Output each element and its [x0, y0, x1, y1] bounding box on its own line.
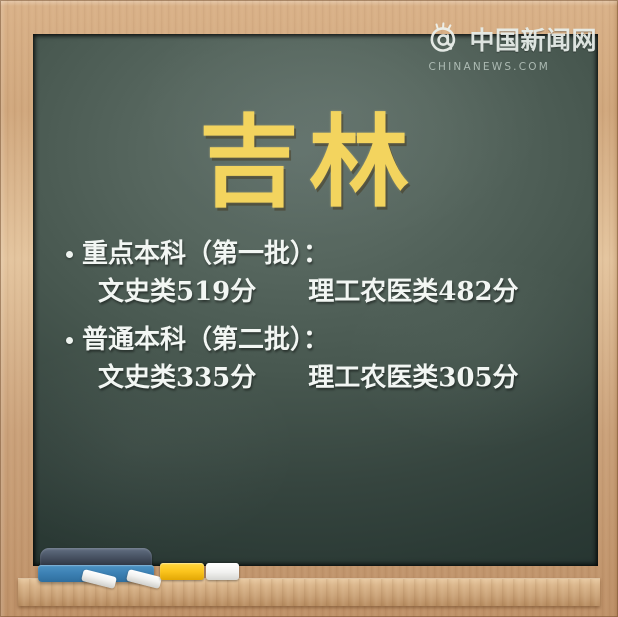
- section-heading: 重点本科（第一批）：: [66, 236, 588, 273]
- score-content: 重点本科（第一批）： 文史类519分 理工农医类482分 普通本科（第二批）： …: [66, 236, 588, 398]
- section-scores-line: 文史类335分 理工农医类305分: [98, 359, 588, 398]
- white-chalk: [206, 563, 239, 580]
- chinanews-logo: 中国新闻网 CHINANEWS.COM: [426, 22, 597, 73]
- logo-name-en: CHINANEWS.COM: [428, 61, 550, 73]
- province-title: 吉林: [0, 112, 618, 212]
- section-heading-label: 普通本科（第二批）：: [82, 322, 329, 359]
- yellow-chalk: [160, 563, 204, 580]
- section-scores-line: 文史类519分 理工农医类482分: [98, 273, 588, 312]
- score-group-first-batch: 重点本科（第一批）： 文史类519分 理工农医类482分: [66, 236, 588, 312]
- logo-name-cn: 中国新闻网: [469, 28, 597, 53]
- section-heading-label: 重点本科（第一批）：: [82, 236, 329, 273]
- bullet-dot-icon: [66, 337, 73, 344]
- logo-row: 中国新闻网: [426, 22, 597, 58]
- score-group-second-batch: 普通本科（第二批）： 文史类335分 理工农医类305分: [66, 322, 588, 398]
- poster-stage: 中国新闻网 CHINANEWS.COM 吉林 重点本科（第一批）： 文史类519…: [0, 0, 618, 617]
- at-sign-burst-icon: [426, 22, 462, 58]
- section-heading: 普通本科（第二批）：: [66, 322, 588, 359]
- bullet-dot-icon: [66, 251, 73, 258]
